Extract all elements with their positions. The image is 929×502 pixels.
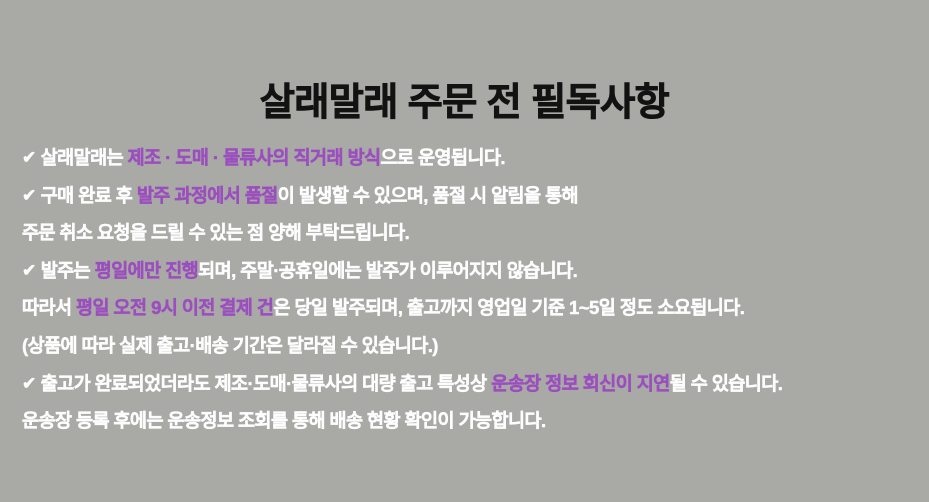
- body-text: 이 발생할 수 있으며, 품절 시 알림을 통해: [278, 185, 578, 206]
- notice-line: (상품에 따라 실제 출고·배송 기간은 달라질 수 있습니다.): [22, 327, 920, 365]
- body-text: 은 당일 발주되며, 출고까지 영업일 기준 1~5일 정도 소요됩니다.: [273, 297, 744, 318]
- check-icon: ✔: [22, 365, 36, 403]
- body-text: 될 수 있습니다.: [670, 373, 783, 394]
- body-text: 운송장 등록 후에는 운송정보 조회를 통해 배송 현황 확인이 가능합니다.: [22, 410, 546, 431]
- notice-line: ✔발주는 평일에만 진행되며, 주말·공휴일에는 발주가 이루어지지 않습니다.: [22, 252, 920, 290]
- body-text: 구매 완료 후: [41, 185, 137, 206]
- highlighted-text: 발주 과정에서 품절: [137, 185, 278, 206]
- highlighted-text: 운송장 정보 회신이 지연: [491, 373, 669, 394]
- notice-line: ✔살래말래는 제조 · 도매 · 물류사의 직거래 방식으로 운영됩니다.: [22, 139, 920, 177]
- notice-line: ✔출고가 완료되었더라도 제조·도매·물류사의 대량 출고 특성상 운송장 정보…: [22, 365, 920, 403]
- body-text: 주문 취소 요청을 드릴 수 있는 점 양해 부탁드립니다.: [22, 222, 409, 243]
- notice-line: 따라서 평일 오전 9시 이전 결제 건은 당일 발주되며, 출고까지 영업일 …: [22, 289, 920, 327]
- notice-body: ✔살래말래는 제조 · 도매 · 물류사의 직거래 방식으로 운영됩니다.✔구매…: [22, 139, 920, 440]
- body-text: 따라서: [22, 297, 76, 318]
- body-text: 살래말래는: [41, 147, 128, 168]
- notice-line: 운송장 등록 후에는 운송정보 조회를 통해 배송 현황 확인이 가능합니다.: [22, 402, 920, 440]
- body-text: 출고가 완료되었더라도 제조·도매·물류사의 대량 출고 특성상: [41, 373, 492, 394]
- body-text: 되며, 주말·공휴일에는 발주가 이루어지지 않습니다.: [198, 260, 577, 281]
- check-icon: ✔: [22, 252, 36, 290]
- notice-line: ✔구매 완료 후 발주 과정에서 품절이 발생할 수 있으며, 품절 시 알림을…: [22, 177, 920, 215]
- notice-line: 주문 취소 요청을 드릴 수 있는 점 양해 부탁드립니다.: [22, 214, 920, 252]
- highlighted-text: 평일에만 진행: [95, 260, 198, 281]
- page-title: 살래말래 주문 전 필독사항: [0, 82, 929, 126]
- notice-banner: 살래말래 주문 전 필독사항 ✔살래말래는 제조 · 도매 · 물류사의 직거래…: [0, 0, 929, 502]
- body-text: (상품에 따라 실제 출고·배송 기간은 달라질 수 있습니다.): [22, 335, 438, 356]
- highlighted-text: 제조 · 도매 · 물류사의 직거래 방식: [128, 147, 381, 168]
- body-text: 으로 운영됩니다.: [381, 147, 505, 168]
- check-icon: ✔: [22, 139, 36, 177]
- highlighted-text: 평일 오전 9시 이전 결제 건: [76, 297, 273, 318]
- body-text: 발주는: [41, 260, 95, 281]
- check-icon: ✔: [22, 177, 36, 215]
